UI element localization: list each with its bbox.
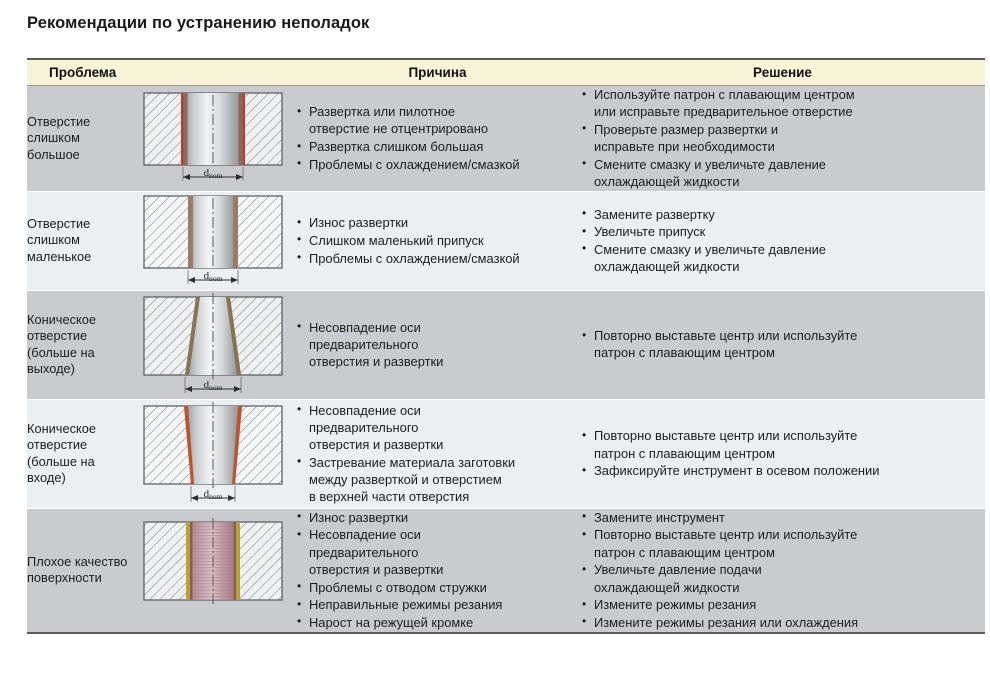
figure-cell: dnom <box>131 86 295 192</box>
figure-cell: dnom <box>131 191 295 290</box>
solution-list: Повторно выставьте центр или используйте… <box>580 427 985 479</box>
list-item: Повторно выставьте центр или используйте… <box>580 327 985 361</box>
cause-cell: Несовпадение оси предварительного отверс… <box>295 290 580 399</box>
svg-text:dnom: dnom <box>204 379 223 392</box>
tapered-hole-wider-at-exit-diagram: dnom <box>134 291 292 399</box>
list-item: Несовпадение оси предварительного отверс… <box>295 526 580 578</box>
table-row: Коническое отверстие (больше на входе) <box>27 399 985 508</box>
table-row: Отверстие слишком маленькое <box>27 191 985 290</box>
list-item: Используйте патрон с плавающим центром и… <box>580 86 985 120</box>
problem-cell: Коническое отверстие (больше на выходе) <box>27 290 131 399</box>
solution-cell: Используйте патрон с плавающим центром и… <box>580 86 985 192</box>
problem-cell: Плохое качество поверхности <box>27 508 131 632</box>
cause-cell: Развертка или пилотное отверстие не отце… <box>295 86 580 192</box>
list-item: Повторно выставьте центр или используйте… <box>580 526 985 560</box>
solution-cell: Повторно выставьте центр или используйте… <box>580 399 985 508</box>
table-row: Плохое качество поверхности <box>27 508 985 632</box>
list-item: Увеличьте припуск <box>580 223 985 240</box>
problem-cell: Отверстие слишком маленькое <box>27 191 131 290</box>
column-header-problem: Проблема <box>27 59 295 86</box>
list-item: Повторно выставьте центр или используйте… <box>580 427 985 461</box>
list-item: Измените режимы резания или охлаждения <box>580 614 985 631</box>
problem-cell: Отверстие слишком большое <box>27 86 131 192</box>
list-item: Проблемы с охлаждением/смазкой <box>295 250 580 267</box>
svg-text:dnom: dnom <box>204 167 223 180</box>
tapered-hole-wider-at-entry-diagram: dnom <box>134 400 292 508</box>
solution-list: Замените развертку Увеличьте припуск Сме… <box>580 206 985 276</box>
list-item: Застревание материала заготовки между ра… <box>295 454 580 506</box>
figure-cell: dnom <box>131 290 295 399</box>
table-body: Отверстие слишком большое <box>27 86 985 633</box>
hole-too-small-diagram: dnom <box>134 192 292 290</box>
list-item: Развертка или пилотное отверстие не отце… <box>295 103 580 137</box>
list-item: Развертка слишком большая <box>295 138 580 155</box>
list-item: Несовпадение оси предварительного отверс… <box>295 319 580 371</box>
troubleshooting-table-wrap: Проблема Причина Решение Отверстие слишк… <box>27 58 985 634</box>
list-item: Износ развертки <box>295 214 580 231</box>
list-item: Проблемы с охлаждением/смазкой <box>295 156 580 173</box>
solution-list: Замените инструмент Повторно выставьте ц… <box>580 509 985 631</box>
solution-cell: Замените инструмент Повторно выставьте ц… <box>580 508 985 632</box>
list-item: Неправильные режимы резания <box>295 596 580 613</box>
figure-cell: dnom <box>131 399 295 508</box>
list-item: Смените смазку и увеличьте давление охла… <box>580 156 985 190</box>
cause-cell: Несовпадение оси предварительного отверс… <box>295 399 580 508</box>
svg-text:dnom: dnom <box>204 488 223 501</box>
list-item: Увеличьте давление подачи охлаждающей жи… <box>580 561 985 595</box>
cause-list: Износ развертки Слишком маленький припус… <box>295 214 580 267</box>
list-item: Проверьте размер развертки и исправьте п… <box>580 121 985 155</box>
problem-cell: Коническое отверстие (больше на входе) <box>27 399 131 508</box>
list-item: Проблемы с отводом стружки <box>295 579 580 596</box>
cause-list: Несовпадение оси предварительного отверс… <box>295 402 580 506</box>
cause-list: Развертка или пилотное отверстие не отце… <box>295 103 580 173</box>
solution-list: Используйте патрон с плавающим центром и… <box>580 86 985 190</box>
list-item: Замените инструмент <box>580 509 985 526</box>
troubleshooting-table: Проблема Причина Решение Отверстие слишк… <box>27 58 985 634</box>
table-row: Коническое отверстие (больше на выходе) <box>27 290 985 399</box>
table-header-row: Проблема Причина Решение <box>27 59 985 86</box>
list-item: Нарост на режущей кромке <box>295 614 580 631</box>
svg-text:dnom: dnom <box>204 270 223 283</box>
page-root: Рекомендации по устранению неполадок Про… <box>0 0 990 697</box>
list-item: Несовпадение оси предварительного отверс… <box>295 402 580 454</box>
page-title: Рекомендации по устранению неполадок <box>27 14 369 33</box>
figure-cell <box>131 508 295 632</box>
list-item: Измените режимы резания <box>580 596 985 613</box>
cause-list: Износ развертки Несовпадение оси предвар… <box>295 509 580 631</box>
cause-cell: Износ развертки Слишком маленький припус… <box>295 191 580 290</box>
poor-surface-finish-diagram <box>134 516 292 624</box>
hole-too-large-diagram: dnom <box>134 89 292 187</box>
solution-cell: Замените развертку Увеличьте припуск Сме… <box>580 191 985 290</box>
list-item: Слишком маленький припуск <box>295 232 580 249</box>
solution-list: Повторно выставьте центр или используйте… <box>580 327 985 361</box>
list-item: Замените развертку <box>580 206 985 223</box>
solution-cell: Повторно выставьте центр или используйте… <box>580 290 985 399</box>
column-header-solution: Решение <box>580 59 985 86</box>
list-item: Смените смазку и увеличьте давление охла… <box>580 241 985 275</box>
cause-list: Несовпадение оси предварительного отверс… <box>295 319 580 371</box>
list-item: Зафиксируйте инструмент в осевом положен… <box>580 462 985 479</box>
list-item: Износ развертки <box>295 509 580 526</box>
cause-cell: Износ развертки Несовпадение оси предвар… <box>295 508 580 632</box>
table-row: Отверстие слишком большое <box>27 86 985 192</box>
column-header-cause: Причина <box>295 59 580 86</box>
